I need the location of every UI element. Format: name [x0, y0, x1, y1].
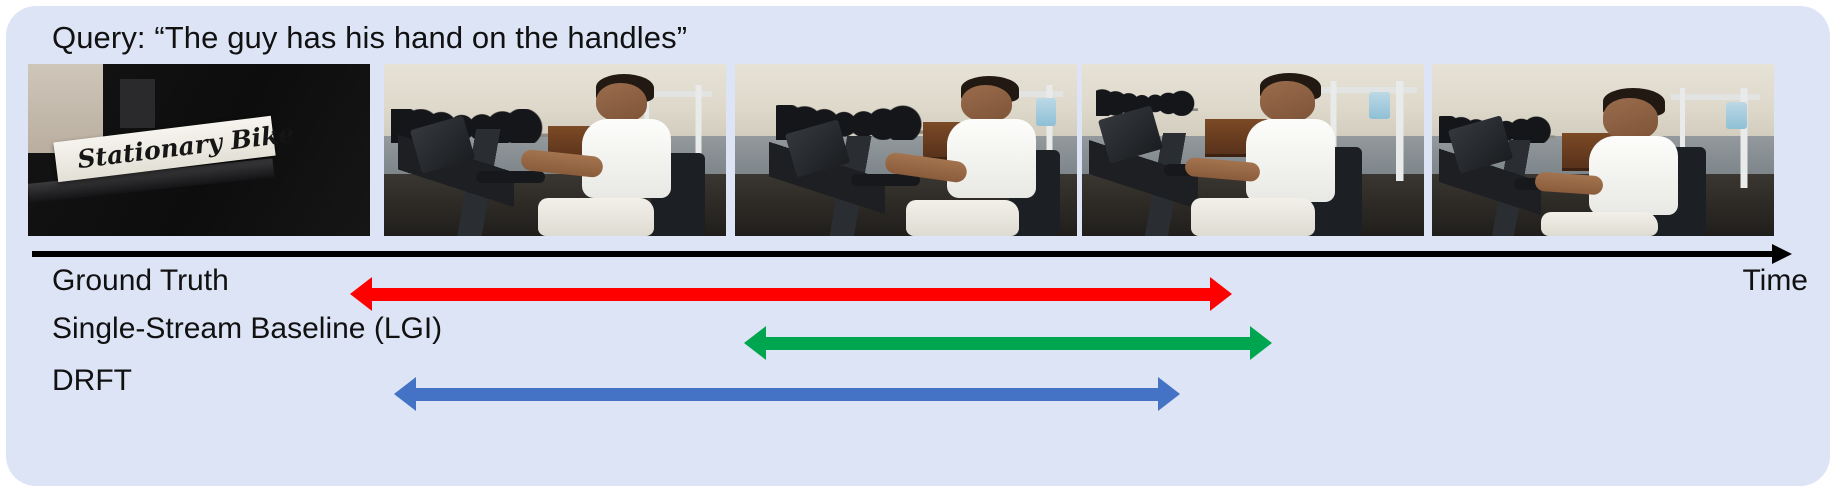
bike-handlebar [851, 174, 919, 186]
person-shirt [1589, 136, 1678, 215]
person-shorts [906, 200, 1019, 236]
person-head [596, 83, 647, 123]
bike-handlebar [476, 171, 544, 183]
axis-arrow-icon [1772, 244, 1792, 264]
arrow-right-head-icon [1210, 277, 1232, 311]
person-shirt [947, 119, 1036, 198]
frame-5-canvas [1432, 64, 1774, 236]
person-shorts [1191, 198, 1314, 236]
arrow-right-head-icon [1250, 326, 1272, 360]
interval-bar [367, 288, 1215, 301]
person-head [1260, 81, 1315, 122]
interval-bar [761, 337, 1255, 350]
frame-3-canvas [735, 64, 1077, 236]
query-caption: Query: “The guy has his hand on the hand… [52, 16, 687, 60]
water-jug [1369, 92, 1390, 120]
interval-single-stream-baseline [744, 326, 1272, 360]
video-frame-1: Stationary Bike [28, 64, 370, 236]
interval-drft [394, 377, 1180, 411]
video-frame-5 [1432, 64, 1774, 236]
video-frame-3 [735, 64, 1077, 236]
video-frame-4 [1082, 64, 1424, 236]
timeline-axis [32, 244, 1792, 264]
figure-panel: Query: “The guy has his hand on the hand… [6, 6, 1830, 486]
time-axis-label: Time [1742, 264, 1808, 298]
person-shorts [538, 198, 654, 236]
video-frame-2 [384, 64, 726, 236]
person-shirt [1246, 119, 1335, 202]
person-head [961, 85, 1012, 123]
video-frame-strip: Stationary Bike [28, 64, 1776, 236]
interval-bar [411, 388, 1163, 401]
axis-line [32, 251, 1776, 257]
water-jug [1726, 102, 1747, 130]
person-shorts [1541, 212, 1657, 236]
person-head [1603, 98, 1658, 139]
frame-4-canvas [1082, 64, 1424, 236]
black-box [120, 79, 154, 127]
arrow-right-head-icon [1158, 377, 1180, 411]
row-label-drft: DRFT [52, 364, 132, 398]
frame-1-canvas: Stationary Bike [28, 64, 370, 236]
row-label-ground-truth: Ground Truth [52, 264, 229, 298]
frame-2-canvas [384, 64, 726, 236]
interval-ground-truth [350, 277, 1232, 311]
row-label-single-stream-baseline: Single-Stream Baseline (LGI) [52, 312, 442, 346]
water-jug [1036, 98, 1057, 126]
